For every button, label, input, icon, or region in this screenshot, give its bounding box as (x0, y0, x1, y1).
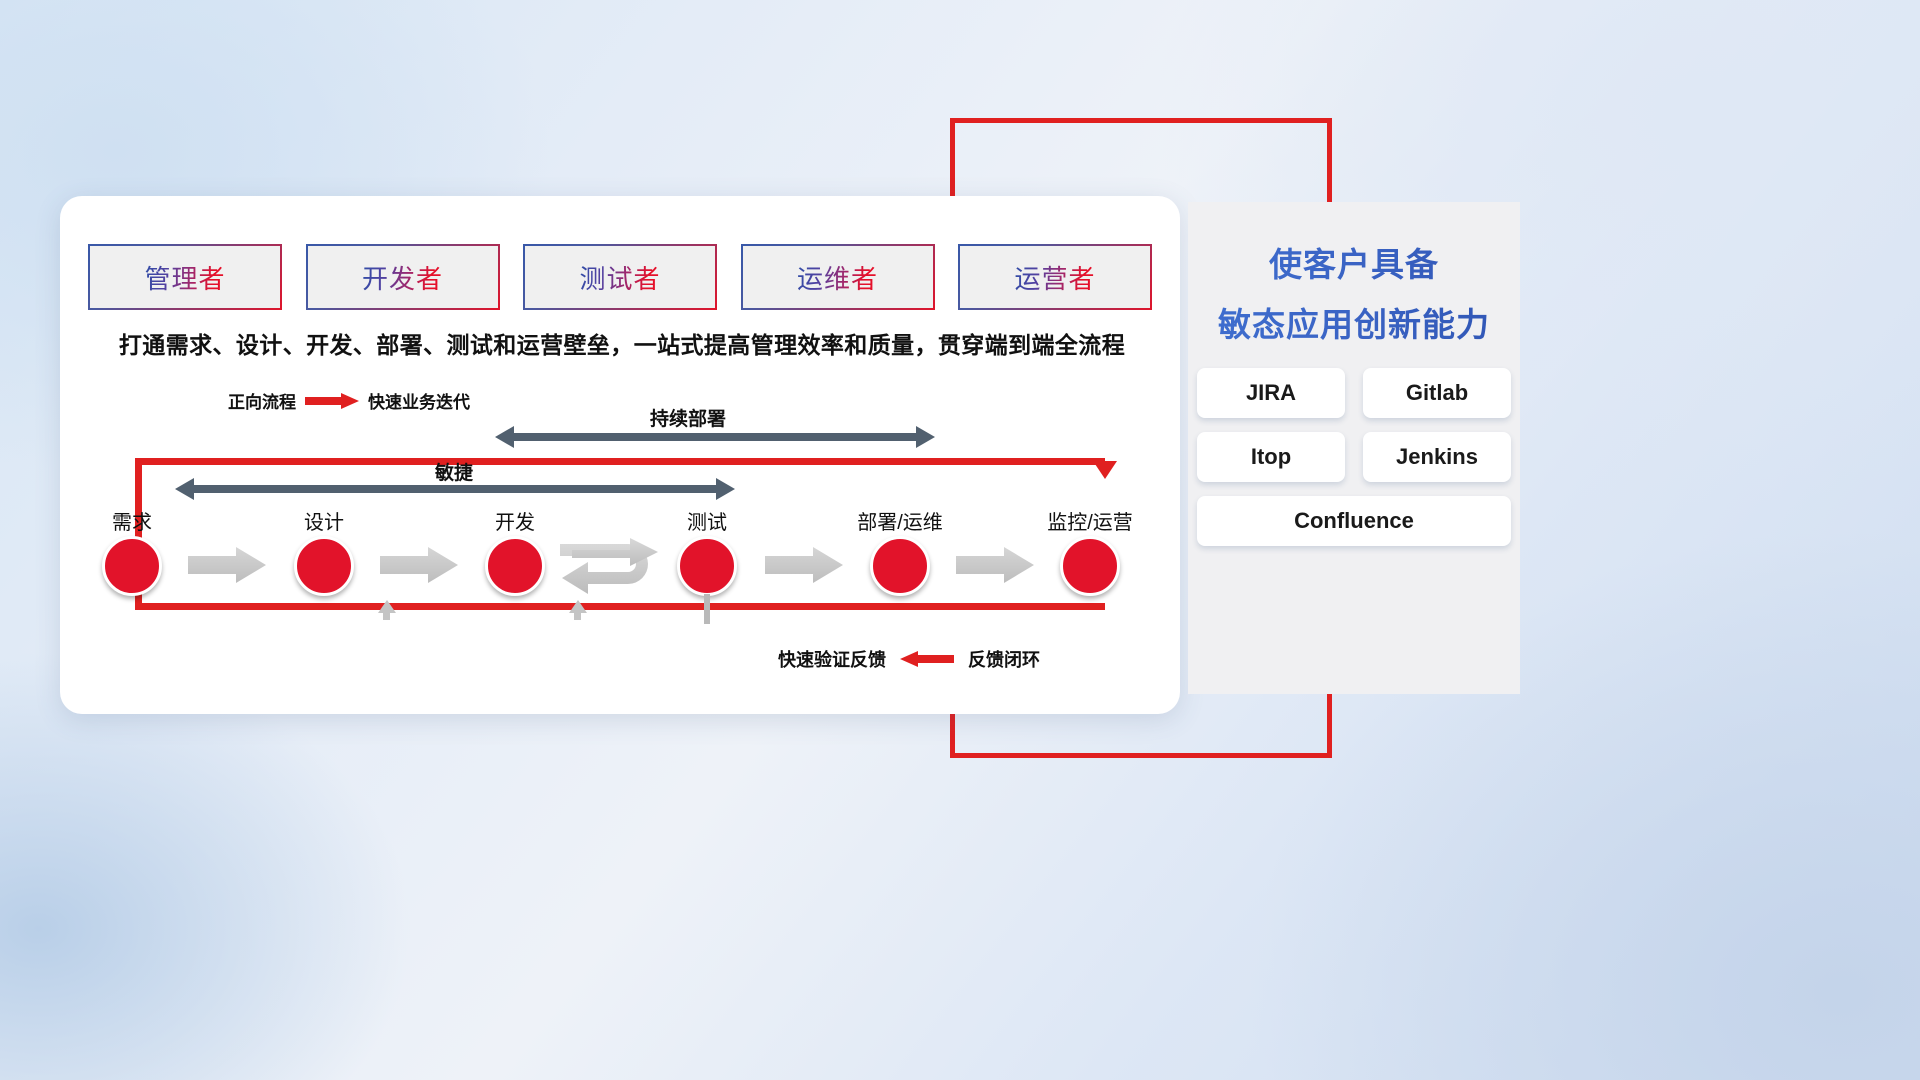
tool-chip-label: Gitlab (1406, 380, 1468, 406)
tool-chip-confluence[interactable]: Confluence (1197, 496, 1511, 546)
tool-chip-label: Confluence (1294, 508, 1414, 534)
legend-feedback-right-label: 反馈闭环 (968, 646, 1040, 672)
loop-top-rail (135, 458, 1105, 465)
description-text: 打通需求、设计、开发、部署、测试和运营壁垒，一站式提高管理效率和质量，贯穿端到端… (102, 326, 1142, 360)
tool-chip-jenkins[interactable]: Jenkins (1363, 432, 1511, 482)
stage-circle-testing[interactable] (677, 536, 737, 596)
span-arrow-continuous-deployment (495, 426, 935, 448)
stage-label-testing: 测试 (687, 506, 727, 535)
span-arrow-agile (175, 478, 735, 500)
stage-circle-requirements[interactable] (102, 536, 162, 596)
value-proposition-panel: 使客户具备 敏态应用创新能力 JIRA Gitlab Itop Jenkins … (1188, 202, 1520, 694)
stage-circle-development[interactable] (485, 536, 545, 596)
tool-chip-jira[interactable]: JIRA (1197, 368, 1345, 418)
role-label: 运营者 (1014, 259, 1095, 296)
right-panel-title-line2: 敏态应用创新能力 (1188, 298, 1520, 346)
tool-chip-label: Jenkins (1396, 444, 1478, 470)
right-arrow-red-icon (305, 393, 359, 409)
role-label: 运维者 (797, 259, 878, 296)
tool-chip-label: JIRA (1246, 380, 1296, 406)
role-box-tester[interactable]: 测试者 (525, 246, 715, 308)
stage-label-requirements: 需求 (112, 506, 152, 535)
tool-chip-itop[interactable]: Itop (1197, 432, 1345, 482)
tool-chip-label: Itop (1251, 444, 1291, 470)
legend-feedback-left-label: 快速验证反馈 (778, 646, 886, 672)
legend-forward-right-label: 快速业务迭代 (368, 388, 470, 413)
role-box-manager[interactable]: 管理者 (90, 246, 280, 308)
loop-bottom-rail (135, 603, 1105, 610)
cycle-loop-gray-icon (558, 536, 668, 598)
arrow-right-gray-icon (765, 546, 845, 584)
legend-forward-flow: 正向流程 快速业务迭代 (228, 388, 470, 413)
frame-left-bottom-stub (950, 714, 955, 758)
stub-development-line (574, 608, 581, 620)
role-box-ops[interactable]: 运维者 (743, 246, 933, 308)
frame-left-top-stub (950, 118, 955, 196)
stub-testing-line (704, 594, 710, 624)
right-panel-title-line1: 使客户具备 (1188, 238, 1520, 286)
stub-design-line (383, 608, 390, 620)
stage-label-deploy-ops: 部署/运维 (857, 506, 943, 535)
role-label: 开发者 (362, 259, 443, 296)
role-box-developer[interactable]: 开发者 (308, 246, 498, 308)
tool-chip-gitlab[interactable]: Gitlab (1363, 368, 1511, 418)
stage-circle-deploy-ops[interactable] (870, 536, 930, 596)
stage-label-monitor-operations: 监控/运营 (1047, 506, 1133, 535)
role-label: 管理者 (144, 259, 225, 296)
tool-chip-list: JIRA Gitlab Itop Jenkins Confluence (1188, 368, 1520, 546)
stage-circle-design[interactable] (294, 536, 354, 596)
main-card: 管理者 开发者 测试者 运维者 运营者 打通需求、设计、开发、部署、测试和运营壁… (60, 196, 1180, 714)
role-box-operator[interactable]: 运营者 (960, 246, 1150, 308)
frame-bottom-segment (950, 753, 1332, 758)
loop-arrowhead-down-icon (1093, 461, 1117, 479)
role-boxes-row: 管理者 开发者 测试者 运维者 运营者 (90, 246, 1150, 308)
slide-canvas: 管理者 开发者 测试者 运维者 运营者 打通需求、设计、开发、部署、测试和运营壁… (0, 0, 1920, 1080)
legend-forward-left-label: 正向流程 (228, 388, 296, 413)
legend-feedback-loop: 快速验证反馈 反馈闭环 (778, 646, 1040, 672)
arrow-right-gray-icon (956, 546, 1036, 584)
stage-circle-monitor-operations[interactable] (1060, 536, 1120, 596)
arrow-right-gray-icon (188, 546, 268, 584)
role-label: 测试者 (579, 259, 660, 296)
arrow-right-gray-icon (380, 546, 460, 584)
stage-label-development: 开发 (495, 506, 535, 535)
frame-top-segment (950, 118, 1332, 123)
left-arrow-red-icon (900, 651, 954, 667)
stage-label-design: 设计 (304, 506, 344, 535)
